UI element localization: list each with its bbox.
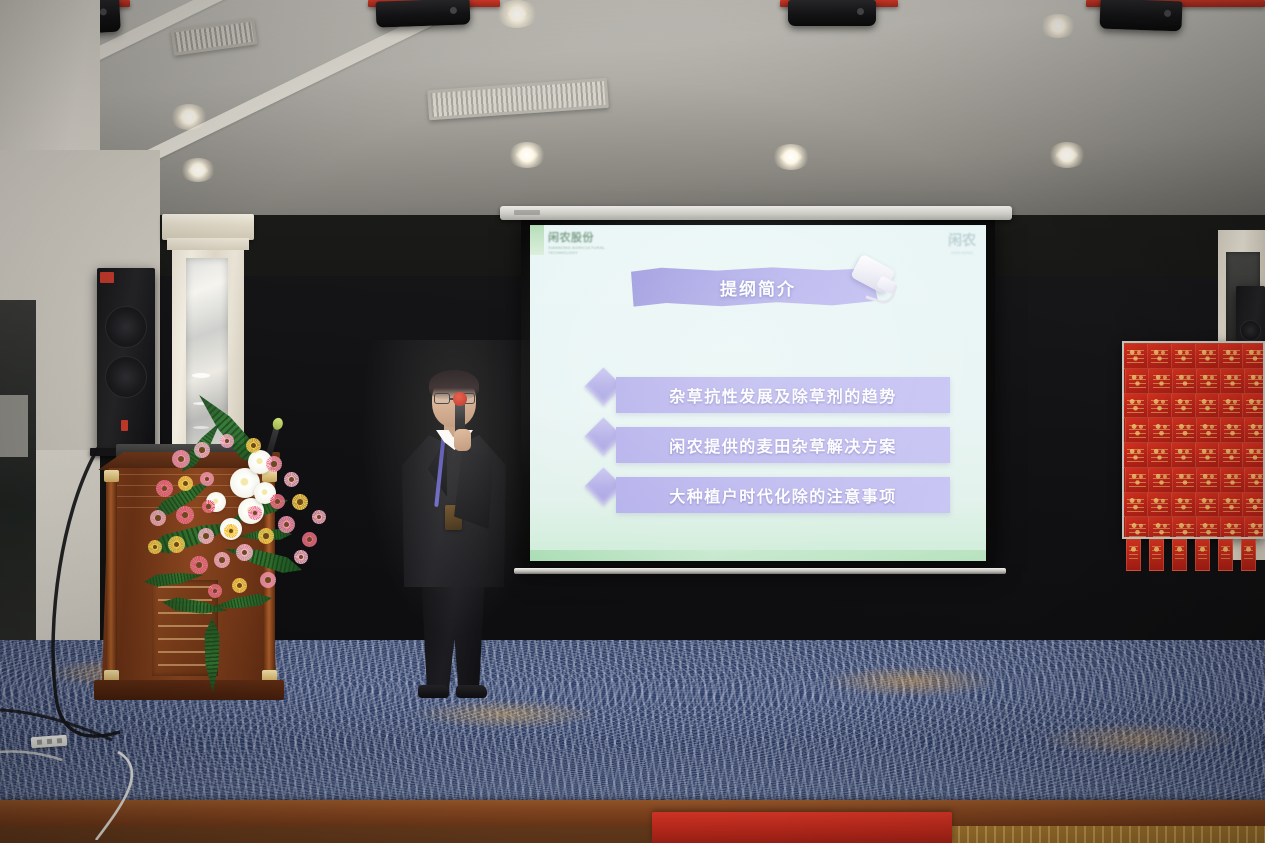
gerbera-flower bbox=[168, 536, 185, 553]
bullet-row: 闲农提供的麦田杂草解决方案 bbox=[590, 427, 950, 465]
couplet-card bbox=[1218, 343, 1244, 369]
couplet-card bbox=[1244, 368, 1265, 394]
gerbera-flower bbox=[194, 442, 210, 458]
stage-light-2[interactable] bbox=[376, 0, 471, 28]
couplet-card bbox=[1171, 343, 1197, 369]
speaker-brand-label bbox=[100, 272, 114, 283]
gerbera-flower bbox=[190, 556, 208, 574]
couplet-card bbox=[1220, 368, 1246, 394]
gerbera-flower bbox=[292, 494, 308, 510]
couplet-tassel bbox=[1172, 539, 1187, 571]
couplet-card bbox=[1220, 467, 1246, 493]
paint-roller-icon bbox=[848, 259, 906, 315]
column-capital-lower bbox=[167, 238, 249, 250]
bullet-label: 杂草抗性发展及除草剂的趋势 bbox=[669, 383, 897, 407]
couplet-tassel bbox=[1218, 539, 1233, 571]
couplet-card bbox=[1244, 467, 1265, 493]
presenter-shoe-right bbox=[456, 685, 487, 698]
couplet-card bbox=[1125, 417, 1151, 443]
couplet-card bbox=[1123, 343, 1149, 369]
gerbera-flower bbox=[150, 510, 166, 526]
bullet-row: 大种植户时代化除的注意事项 bbox=[590, 477, 950, 515]
downlight-3 bbox=[180, 158, 216, 182]
flower-center bbox=[199, 447, 204, 452]
gerbera-flower bbox=[202, 500, 215, 513]
speaker-led-indicator bbox=[121, 420, 128, 431]
couplet-card bbox=[1125, 368, 1151, 394]
speaker-woofer-right bbox=[1240, 320, 1261, 341]
presenter bbox=[392, 373, 516, 713]
presenter-hand bbox=[454, 429, 471, 451]
couplet-card bbox=[1125, 516, 1151, 539]
couplet-card bbox=[1123, 492, 1149, 518]
column-capital bbox=[162, 214, 254, 240]
couplet-card bbox=[1123, 442, 1149, 468]
pa-speaker-left bbox=[97, 268, 155, 450]
watermark-subtext: XIAN NONG bbox=[948, 250, 976, 255]
gerbera-flower bbox=[214, 552, 230, 568]
couplet-card bbox=[1196, 467, 1222, 493]
couplet-card bbox=[1172, 467, 1198, 493]
screen-bottom-bar bbox=[514, 568, 1006, 574]
downlight-1 bbox=[170, 104, 208, 130]
slide-bullet-list: 杂草抗性发展及除草剂的趋势 闲农提供的麦田杂草解决方案 大种植户时代化除的注意事… bbox=[590, 377, 950, 527]
bullet-bar: 闲农提供的麦田杂草解决方案 bbox=[616, 427, 950, 463]
presenter-trousers bbox=[417, 579, 489, 693]
couplet-card bbox=[1218, 442, 1244, 468]
gerbera-flower bbox=[178, 476, 193, 491]
couplet-card bbox=[1172, 516, 1198, 539]
downlight-2 bbox=[496, 0, 538, 28]
gerbera-flower bbox=[246, 438, 261, 453]
gerbera-flower bbox=[258, 528, 274, 544]
gerbera-flower bbox=[248, 506, 262, 520]
gerbera-flower bbox=[312, 510, 326, 524]
couplet-card bbox=[1171, 393, 1197, 419]
flower-center bbox=[155, 515, 160, 520]
couplet-card bbox=[1148, 417, 1174, 443]
couplet-card bbox=[1147, 393, 1173, 419]
presentation-slide: 闲农股份 XIANNONG AGRICULTURAL TECHNOLOGY 闲农… bbox=[530, 225, 986, 561]
bullet-bar: 杂草抗性发展及除草剂的趋势 bbox=[616, 377, 950, 413]
company-logo: 闲农股份 XIANNONG AGRICULTURAL TECHNOLOGY bbox=[548, 229, 634, 253]
couplet-card bbox=[1195, 393, 1221, 419]
couplet-card bbox=[1244, 417, 1265, 443]
couplet-card bbox=[1242, 343, 1265, 369]
screen-roller-housing bbox=[500, 206, 1012, 220]
watermark-mark: 闲农 bbox=[948, 230, 976, 250]
stage-gold-skirt bbox=[940, 826, 1265, 843]
gerbera-flower bbox=[302, 532, 317, 547]
flower-center bbox=[183, 481, 188, 486]
gerbera-flower bbox=[172, 450, 190, 468]
couplet-card bbox=[1147, 343, 1173, 369]
gerbera-flower bbox=[148, 540, 162, 554]
gerbera-flower bbox=[232, 578, 247, 593]
slide-green-accent-left bbox=[530, 225, 544, 255]
bullet-label: 大种植户时代化除的注意事项 bbox=[669, 483, 897, 507]
flower-center bbox=[263, 533, 268, 538]
stage-light-3[interactable] bbox=[788, 0, 876, 26]
flower-center bbox=[251, 443, 256, 448]
bullet-label: 闲农提供的麦田杂草解决方案 bbox=[669, 433, 897, 457]
couplet-tassel bbox=[1241, 539, 1256, 571]
couplet-card bbox=[1147, 442, 1173, 468]
couplet-card bbox=[1196, 516, 1222, 539]
ceiling bbox=[0, 0, 1265, 230]
gerbera-flower bbox=[294, 550, 308, 564]
couplet-card bbox=[1195, 492, 1221, 518]
couplet-tassel bbox=[1195, 539, 1210, 571]
couplet-card bbox=[1218, 393, 1244, 419]
couplet-card bbox=[1220, 417, 1246, 443]
couplet-card bbox=[1196, 368, 1222, 394]
downlight-5 bbox=[772, 144, 810, 170]
stage-light-4[interactable] bbox=[1100, 0, 1183, 31]
couplet-card bbox=[1148, 467, 1174, 493]
presenter-shoe-left bbox=[418, 685, 449, 698]
couplet-card bbox=[1242, 492, 1265, 518]
couplet-tassel bbox=[1149, 539, 1164, 571]
projection-screen[interactable]: 闲农股份 XIANNONG AGRICULTURAL TECHNOLOGY 闲农… bbox=[521, 218, 995, 566]
slide-bottom-green-bar bbox=[530, 550, 986, 561]
gerbera-flower bbox=[266, 456, 282, 472]
downlight-6 bbox=[1048, 142, 1086, 168]
couplet-card bbox=[1148, 516, 1174, 539]
gerbera-flower bbox=[198, 528, 214, 544]
couplet-card bbox=[1196, 417, 1222, 443]
speaker-woofer-1 bbox=[105, 306, 147, 348]
logo-subtext: XIANNONG AGRICULTURAL TECHNOLOGY bbox=[548, 245, 634, 255]
couplet-card bbox=[1172, 368, 1198, 394]
couplet-card bbox=[1148, 368, 1174, 394]
couplet-tassel bbox=[1126, 539, 1141, 571]
gerbera-flower bbox=[284, 472, 299, 487]
couplet-card bbox=[1195, 442, 1221, 468]
photo-scene: 闲农股份 XIANNONG AGRICULTURAL TECHNOLOGY 闲农… bbox=[0, 0, 1265, 843]
bullet-row: 杂草抗性发展及除草剂的趋势 bbox=[590, 377, 950, 415]
red-stage-step bbox=[652, 812, 952, 843]
couplet-card bbox=[1171, 442, 1197, 468]
flower-center bbox=[265, 577, 270, 582]
couplet-card bbox=[1171, 492, 1197, 518]
couplet-card bbox=[1125, 467, 1151, 493]
gerbera-flower bbox=[176, 506, 194, 524]
flower-arrangement bbox=[142, 432, 350, 642]
gerbera-flower bbox=[220, 434, 234, 448]
speaker-woofer-2 bbox=[105, 356, 147, 398]
downlight-7 bbox=[1040, 14, 1076, 38]
couplet-card bbox=[1147, 492, 1173, 518]
slide-watermark: 闲农 XIAN NONG bbox=[948, 230, 976, 255]
gerbera-flower bbox=[260, 572, 276, 588]
red-couplet-wall bbox=[1122, 341, 1265, 539]
couplet-card bbox=[1244, 516, 1265, 539]
slide-title: 提纲简介 bbox=[668, 275, 848, 300]
couplet-card bbox=[1123, 393, 1149, 419]
slide-title-banner: 提纲简介 bbox=[626, 263, 916, 313]
couplet-card bbox=[1242, 442, 1265, 468]
flower-center bbox=[237, 583, 242, 588]
gerbera-flower bbox=[270, 494, 285, 509]
couplet-card bbox=[1195, 343, 1221, 369]
flower-center bbox=[297, 499, 302, 504]
gerbera-flower bbox=[208, 584, 222, 598]
gerbera-flower bbox=[236, 544, 253, 561]
gerbera-flower bbox=[156, 480, 173, 497]
flower-center bbox=[289, 477, 294, 482]
couplet-card bbox=[1218, 492, 1244, 518]
couplet-card bbox=[1220, 516, 1246, 539]
gerbera-flower bbox=[278, 516, 295, 533]
downlight-4 bbox=[508, 142, 546, 168]
couplet-card bbox=[1242, 393, 1265, 419]
bullet-bar: 大种植户时代化除的注意事项 bbox=[616, 477, 950, 513]
gerbera-flower bbox=[224, 524, 238, 538]
flower-center bbox=[271, 461, 276, 466]
flower-center bbox=[203, 533, 208, 538]
flower-center bbox=[219, 557, 224, 562]
flower-center bbox=[206, 504, 210, 508]
logo-text: 闲农股份 bbox=[548, 229, 634, 245]
flower-center bbox=[275, 499, 280, 504]
flower-center bbox=[307, 537, 312, 542]
gerbera-flower bbox=[200, 472, 214, 486]
couplet-card bbox=[1172, 417, 1198, 443]
